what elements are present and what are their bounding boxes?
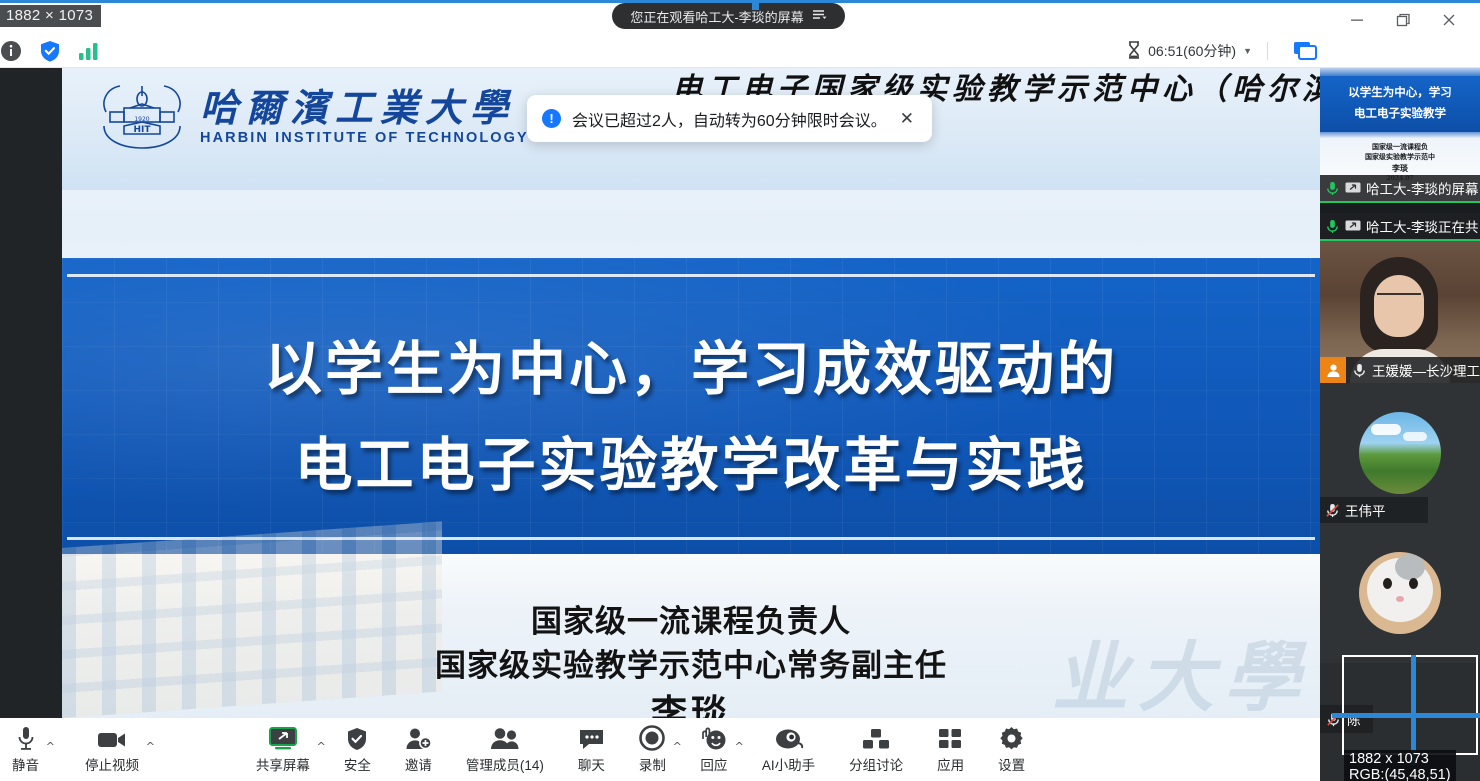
toolbar-label: 安全	[344, 754, 371, 774]
tile-name-strip: 哈工大-李琰的屏幕	[1320, 175, 1480, 201]
presenter-name: 李琰	[62, 684, 1320, 718]
tile-name-strip-chen: 陈	[1320, 705, 1373, 733]
participant-name: 哈工大-李琰的屏幕	[1366, 178, 1479, 198]
toolbar-label: 邀请	[405, 754, 432, 774]
close-button[interactable]	[1426, 3, 1472, 37]
capture-size-badge: 1882 × 1073	[0, 5, 101, 27]
toolbar-label: 应用	[937, 754, 964, 774]
presenter-role-line1: 国家级一流课程负责人	[62, 596, 1320, 641]
toolbar-security-button[interactable]: 安全	[344, 718, 371, 781]
hit-logo-abbr: HIT	[133, 125, 151, 135]
chevron-down-icon[interactable]: ▼	[1243, 46, 1252, 56]
toolbar-label: 共享屏幕	[256, 754, 310, 774]
toolbar-settings-button[interactable]: 设置	[998, 718, 1025, 781]
mini-presenter-name: 李琰	[1320, 163, 1480, 174]
toolbar-label: 回应	[700, 754, 727, 774]
participant-name: 陈	[1347, 709, 1361, 729]
watching-screen-text: 您正在观看哈工大-李琰的屏幕	[630, 7, 803, 26]
chevron-up-icon[interactable]: ^	[317, 740, 326, 753]
microphone-icon	[16, 725, 36, 751]
toolbar-participants-button[interactable]: 管理成员(14)	[466, 718, 544, 781]
toolbar-record-button[interactable]: 录制 ^	[639, 718, 666, 781]
gear-icon	[999, 725, 1024, 751]
toolbar-divider	[1267, 42, 1268, 60]
toolbar-label: 分组讨论	[849, 754, 903, 774]
toolbar-label: 停止视频	[85, 754, 139, 774]
shield-check-icon	[346, 725, 368, 751]
mini-title-line2: 电工电子实验教学	[1320, 105, 1480, 121]
meeting-toolbar: 静音 ^ 停止视频 ^ 共享屏幕 ^ 安全	[0, 718, 1320, 781]
tile-name-strip: 哈工大-李琰正在共	[1320, 213, 1480, 239]
chevron-up-icon[interactable]: ^	[146, 740, 155, 753]
toolbar-label: 静音	[12, 754, 39, 774]
toolbar-breakout-rooms-button[interactable]: 分组讨论	[849, 718, 903, 781]
toolbar-stop-video-button[interactable]: 停止视频 ^	[85, 718, 139, 781]
mini-role-line2: 国家级实验教学示范中	[1320, 152, 1480, 162]
mic-muted-icon	[1326, 712, 1341, 727]
signal-bars-icon[interactable]	[78, 41, 100, 61]
minimize-button[interactable]	[1334, 3, 1380, 37]
meeting-timer-text: 06:51(60分钟)	[1148, 41, 1236, 61]
cat-eye-decor	[1383, 578, 1392, 589]
invite-person-icon	[405, 725, 432, 751]
meeting-timer[interactable]: 06:51(60分钟) ▼	[1127, 34, 1252, 68]
watching-screen-pill[interactable]: 您正在观看哈工大-李琰的屏幕	[612, 3, 845, 29]
toolbar-reactions-button[interactable]: 回应 ^	[700, 718, 728, 781]
video-decor-face	[1374, 275, 1424, 337]
chevron-up-icon[interactable]: ^	[735, 740, 744, 753]
hit-crest-icon: 1920 HIT	[96, 82, 188, 150]
slide-title-band: 以学生为中心，学习成效驱动的 电工电子实验教学改革与实践	[62, 258, 1320, 554]
mic-on-icon	[1325, 181, 1340, 196]
reactions-icon	[700, 725, 728, 751]
toolbar-apps-button[interactable]: 应用	[937, 718, 964, 781]
toolbar-label: 聊天	[578, 754, 605, 774]
mini-role-line1: 国家级一流课程负	[1320, 142, 1480, 152]
mini-title-line1: 以学生为中心，学习	[1320, 84, 1480, 100]
presentation-slide: 1920 HIT 哈爾濱工業大學 HARBIN INSTITUTE OF TEC…	[62, 68, 1320, 718]
toolbar-label: 设置	[998, 754, 1025, 774]
hit-logo-english-name: HARBIN INSTITUTE OF TECHNOLOGY	[200, 130, 529, 146]
cat-eye-decor	[1409, 578, 1418, 589]
participant-name: 王媛媛—长沙理工	[1372, 360, 1480, 380]
cat-patch-decor	[1395, 554, 1425, 580]
record-circle-icon	[639, 725, 665, 751]
hourglass-icon	[1127, 41, 1141, 62]
participant-tile-camera[interactable]: 王媛媛—长沙理工	[1320, 241, 1480, 383]
toolbar-mute-button[interactable]: 静音 ^	[12, 718, 39, 781]
participant-tile-active-speaker[interactable]: 哈工大-李琰正在共	[1320, 201, 1480, 241]
toast-close-icon[interactable]: ✕	[900, 109, 914, 129]
share-screen-icon[interactable]	[1293, 40, 1317, 67]
video-decor-glasses	[1377, 293, 1421, 302]
toolbar-label: 管理成员(14)	[466, 754, 544, 774]
meeting-limit-toast: ! 会议已超过2人，自动转为60分钟限时会议。 ✕	[527, 95, 932, 142]
slide-title-line2: 电工电子实验教学改革与实践	[62, 418, 1320, 502]
screen-share-icon	[1345, 220, 1361, 233]
cat-nose-decor	[1396, 596, 1404, 602]
info-icon[interactable]	[0, 40, 22, 62]
list-menu-icon[interactable]	[812, 8, 827, 24]
toolbar-ai-assistant-button[interactable]: AI小助手	[762, 718, 815, 781]
toolbar-label: 录制	[639, 754, 666, 774]
circuit-pattern-decor	[62, 258, 1320, 554]
presenter-role-line2: 国家级实验教学示范中心常务副主任	[62, 640, 1320, 685]
toolbar-invite-button[interactable]: 邀请	[405, 718, 432, 781]
restore-button[interactable]	[1380, 3, 1426, 37]
video-camera-icon	[97, 725, 127, 751]
info-icon: !	[542, 109, 561, 128]
mic-muted-icon	[1325, 503, 1340, 518]
mic-on-icon	[1352, 363, 1367, 378]
breakout-rooms-icon	[862, 725, 890, 751]
participant-name: 哈工大-李琰正在共	[1366, 216, 1479, 236]
band-top-rule	[67, 274, 1315, 277]
pill-cursor-dot	[752, 3, 759, 10]
cloud-decor	[1371, 424, 1401, 435]
chevron-up-icon[interactable]: ^	[673, 740, 682, 753]
person-avatar-icon	[1320, 357, 1346, 383]
cloud-decor	[1403, 432, 1427, 441]
toolbar-share-screen-button[interactable]: 共享屏幕 ^	[256, 718, 310, 781]
shield-check-icon[interactable]	[40, 40, 60, 62]
meeting-status-bar: 06:51(60分钟) ▼	[0, 34, 1480, 68]
mic-on-icon	[1325, 219, 1340, 234]
toast-message: 会议已超过2人，自动转为60分钟限时会议。	[572, 107, 887, 131]
participants-icon	[490, 725, 520, 751]
screen-share-icon	[1345, 182, 1361, 195]
tile-name-strip: 王伟平	[1320, 497, 1428, 523]
toolbar-chat-button[interactable]: 聊天	[578, 718, 605, 781]
apps-grid-icon	[938, 725, 963, 751]
participant-tile-avatar-cat[interactable]	[1320, 523, 1480, 663]
shared-screen-stage: 1920 HIT 哈爾濱工業大學 HARBIN INSTITUTE OF TEC…	[0, 68, 1320, 718]
tile-name-strip: 王媛媛—长沙理工	[1320, 357, 1480, 383]
avatar	[1359, 552, 1441, 634]
slide-title-line1: 以学生为中心，学习成效驱动的	[62, 322, 1320, 406]
chevron-up-icon[interactable]: ^	[46, 740, 55, 753]
participants-sidebar: 哈爾濱工業大學 HARBIN INSTITUTE OF TECHNOLOGY 电…	[1320, 36, 1480, 781]
chat-bubble-icon	[578, 725, 605, 751]
hit-logo: 1920 HIT 哈爾濱工業大學 HARBIN INSTITUTE OF TEC…	[96, 82, 529, 150]
avatar	[1359, 412, 1441, 494]
ai-assistant-icon	[774, 725, 804, 751]
participant-tile-avatar-nature[interactable]: 王伟平	[1320, 383, 1480, 523]
share-screen-icon	[268, 725, 298, 751]
toolbar-label: AI小助手	[762, 754, 815, 774]
hit-logo-chinese-name: 哈爾濱工業大學	[200, 88, 529, 128]
hit-logo-year: 1920	[134, 116, 149, 123]
participant-name: 王伟平	[1345, 500, 1386, 520]
